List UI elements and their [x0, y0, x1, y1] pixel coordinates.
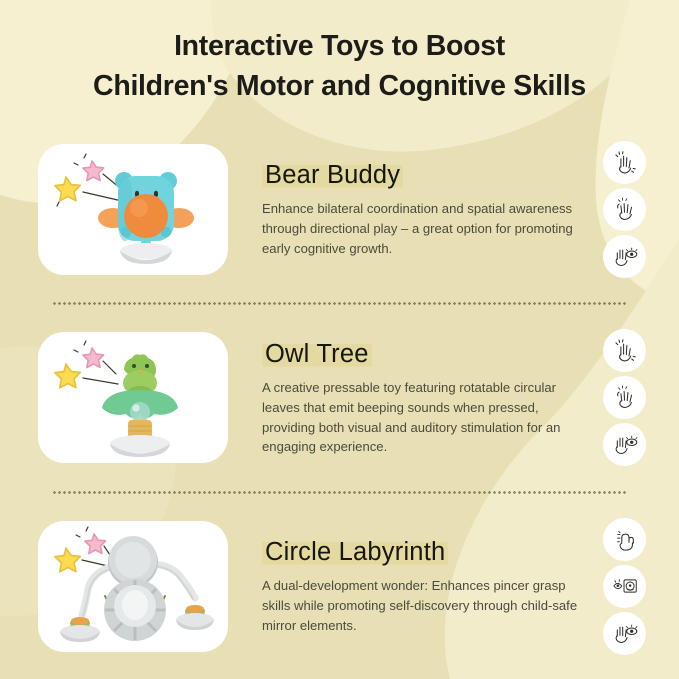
bear-spin-ball [124, 194, 168, 238]
owl-eye-right [145, 364, 149, 368]
hand-motion-icon[interactable] [603, 141, 646, 184]
sparkle-star-pink [85, 534, 106, 554]
product-description-owl-tree: A creative pressable toy featuring rotat… [262, 378, 579, 458]
circle-labyrinth-illustration [40, 522, 226, 650]
product-list: Bear Buddy Enhance bilateral coordinatio… [0, 117, 679, 679]
face-mirror-icon[interactable] [603, 565, 646, 608]
labyrinth-top-disc-inner [115, 542, 151, 578]
labyrinth-base-right [176, 605, 214, 630]
product-text-owl-tree: Owl Tree A creative pressable toy featur… [228, 339, 589, 458]
product-title-circle-labyrinth: Circle Labyrinth [262, 537, 448, 567]
owl-eye-left [132, 364, 136, 368]
product-description-circle-labyrinth: A dual-development wonder: Enhances pinc… [262, 576, 579, 636]
page-title-line-2: Children's Motor and Cognitive Skills [40, 66, 639, 106]
product-text-circle-labyrinth: Circle Labyrinth A dual-development wond… [228, 537, 589, 636]
product-title-bear-buddy: Bear Buddy [262, 160, 403, 190]
hand-tap-icon[interactable] [603, 188, 646, 231]
sparkle-star-yellow [55, 548, 80, 572]
hand-motion-icon[interactable] [603, 329, 646, 372]
hand-eye-icon[interactable] [603, 235, 646, 278]
product-image-card-owl-tree [38, 332, 228, 463]
product-text-bear-buddy: Bear Buddy Enhance bilateral coordinatio… [228, 160, 589, 259]
tree-bulb-hi [132, 404, 139, 411]
benefit-icons-owl-tree [589, 329, 659, 466]
bear-buddy-illustration [40, 146, 226, 274]
product-row-bear-buddy[interactable]: Bear Buddy Enhance bilateral coordinatio… [18, 117, 661, 302]
pinch-grasp-icon[interactable] [603, 518, 646, 561]
product-image-card-bear-buddy [38, 144, 228, 275]
product-row-circle-labyrinth[interactable]: Circle Labyrinth A dual-development wond… [18, 494, 661, 679]
labyrinth-mirror [122, 590, 148, 620]
sparkle-star-yellow [55, 364, 80, 388]
benefit-icons-circle-labyrinth [589, 518, 659, 655]
sparkle-star-pink [83, 161, 104, 181]
sparkle-star-pink [83, 348, 104, 368]
product-image-card-circle-labyrinth [38, 521, 228, 652]
page-header: Interactive Toys to Boost Children's Mot… [0, 0, 679, 117]
hand-eye-icon[interactable] [603, 423, 646, 466]
page-title-line-1: Interactive Toys to Boost [40, 26, 639, 66]
hand-eye-icon[interactable] [603, 612, 646, 655]
page-title: Interactive Toys to Boost Children's Mot… [40, 26, 639, 107]
bear-spin-ball-hi [130, 199, 148, 217]
owl-tree-illustration [40, 334, 226, 462]
infographic-page: Interactive Toys to Boost Children's Mot… [0, 0, 679, 679]
benefit-icons-bear-buddy [589, 141, 659, 278]
labyrinth-base-left [60, 617, 100, 642]
product-description-bear-buddy: Enhance bilateral coordination and spati… [262, 199, 579, 259]
sparkle-star-yellow [55, 177, 80, 201]
product-title-owl-tree: Owl Tree [262, 339, 372, 369]
product-row-owl-tree[interactable]: Owl Tree A creative pressable toy featur… [18, 305, 661, 490]
tree-bulb [130, 402, 150, 422]
hand-tap-icon[interactable] [603, 376, 646, 419]
